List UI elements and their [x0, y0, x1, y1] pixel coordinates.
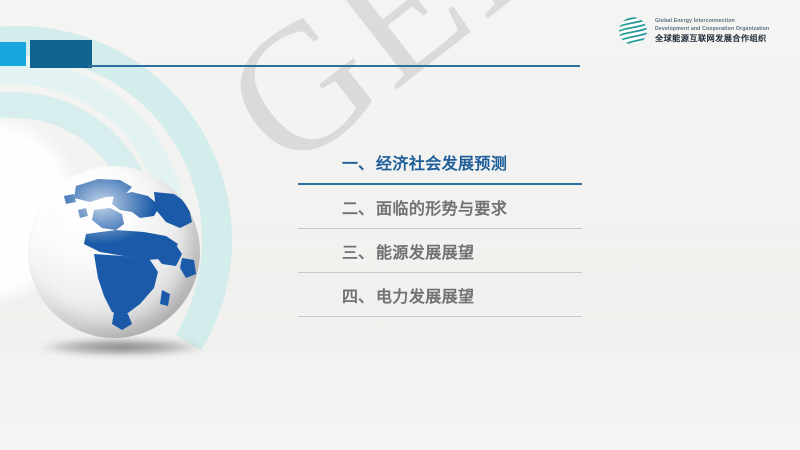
agenda-item-2-number: 二、: [342, 195, 374, 219]
globe-sphere: [28, 166, 200, 338]
presentation-slide: GEIDCO: [0, 0, 800, 450]
header-accent-block-cyan: [0, 42, 26, 66]
logo-english-line-2: Development and Cooperation Organization: [655, 26, 769, 33]
logo-chinese-name: 全球能源互联网发展合作组织: [655, 34, 769, 44]
agenda-item-4-number: 四、: [342, 283, 374, 307]
agenda-item-4[interactable]: 四、 电力发展展望: [298, 273, 582, 317]
agenda-item-2-label: 面临的形势与要求: [376, 195, 507, 219]
header-accent-block-navy: [30, 40, 92, 68]
agenda-item-3-label: 能源发展展望: [376, 239, 474, 263]
globe-continents-icon: [28, 166, 200, 338]
agenda-item-4-label: 电力发展展望: [376, 283, 474, 307]
geidco-globe-emblem-icon: [618, 16, 648, 46]
logo-text-block: Global Energy Interconnection Developmen…: [655, 18, 769, 43]
agenda-item-3[interactable]: 三、 能源发展展望: [298, 229, 582, 273]
agenda-item-1-number: 一、: [342, 150, 374, 174]
globe-drop-shadow: [40, 338, 204, 356]
logo-english-line-1: Global Energy Interconnection: [655, 18, 769, 25]
geidco-logo[interactable]: Global Energy Interconnection Developmen…: [618, 16, 769, 46]
agenda-list: 一、 经济社会发展预测 二、 面临的形势与要求 三、 能源发展展望 四、 电力发…: [298, 140, 582, 317]
agenda-item-1-label: 经济社会发展预测: [376, 150, 507, 174]
agenda-item-2[interactable]: 二、 面临的形势与要求: [298, 185, 582, 229]
header-divider-rule: [88, 65, 580, 67]
agenda-item-3-number: 三、: [342, 239, 374, 263]
earth-globe-graphic: [28, 166, 200, 338]
agenda-item-1[interactable]: 一、 经济社会发展预测: [298, 140, 582, 185]
